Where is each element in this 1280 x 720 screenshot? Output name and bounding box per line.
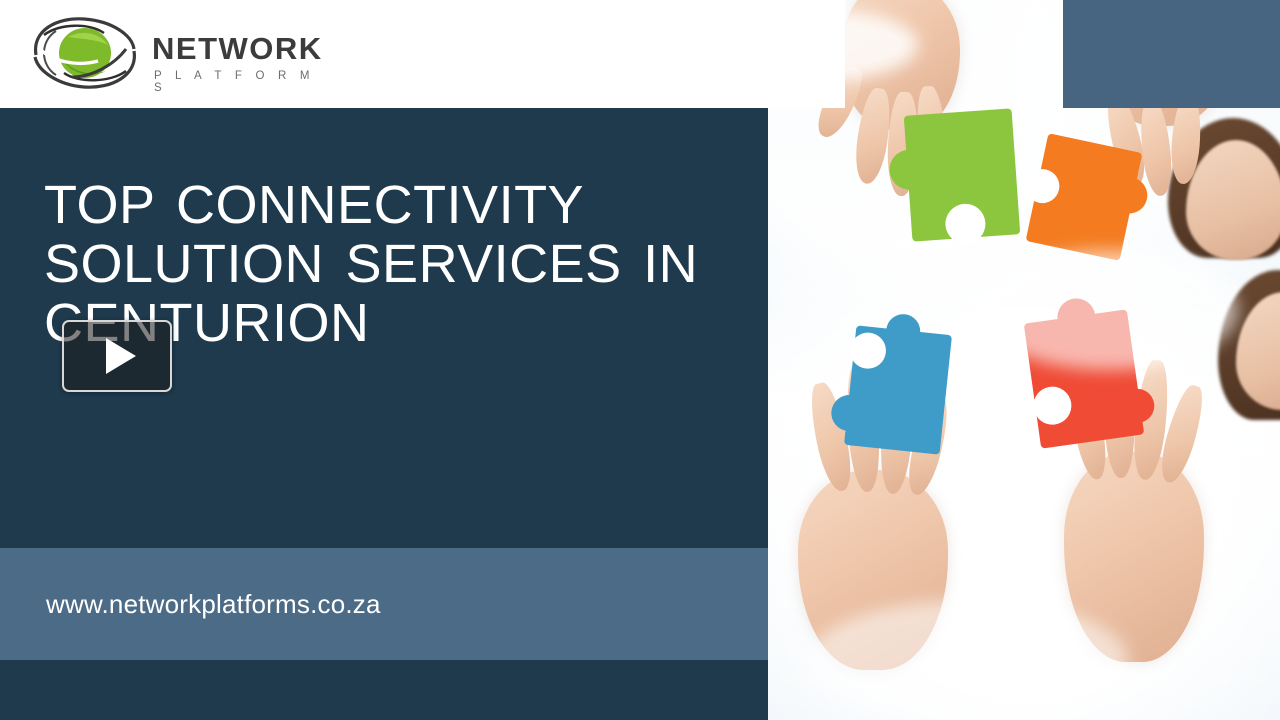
logo-band: NETWORK P L A T F O R M S (0, 0, 845, 108)
logo-tagline: P L A T F O R M S (154, 71, 326, 94)
corner-accent-square (1063, 0, 1280, 108)
bottom-strip (0, 660, 768, 720)
website-url: www.networkplatforms.co.za (46, 589, 381, 620)
blue-puzzle-piece (844, 325, 952, 454)
slide-photo (768, 0, 1280, 720)
company-logo: NETWORK P L A T F O R M S (26, 13, 326, 93)
cloud (978, 250, 1238, 370)
logo-name: NETWORK (152, 33, 326, 64)
cloud (808, 600, 1128, 720)
play-icon (106, 338, 136, 374)
green-puzzle-piece (904, 108, 1021, 241)
network-swirl-icon (26, 15, 142, 91)
play-button[interactable] (62, 320, 172, 392)
presentation-slide: NETWORK P L A T F O R M S TOP CONNECTIVI… (0, 0, 1280, 720)
website-bar: www.networkplatforms.co.za (0, 548, 768, 660)
logo-wordmark: NETWORK P L A T F O R M S (152, 33, 326, 94)
